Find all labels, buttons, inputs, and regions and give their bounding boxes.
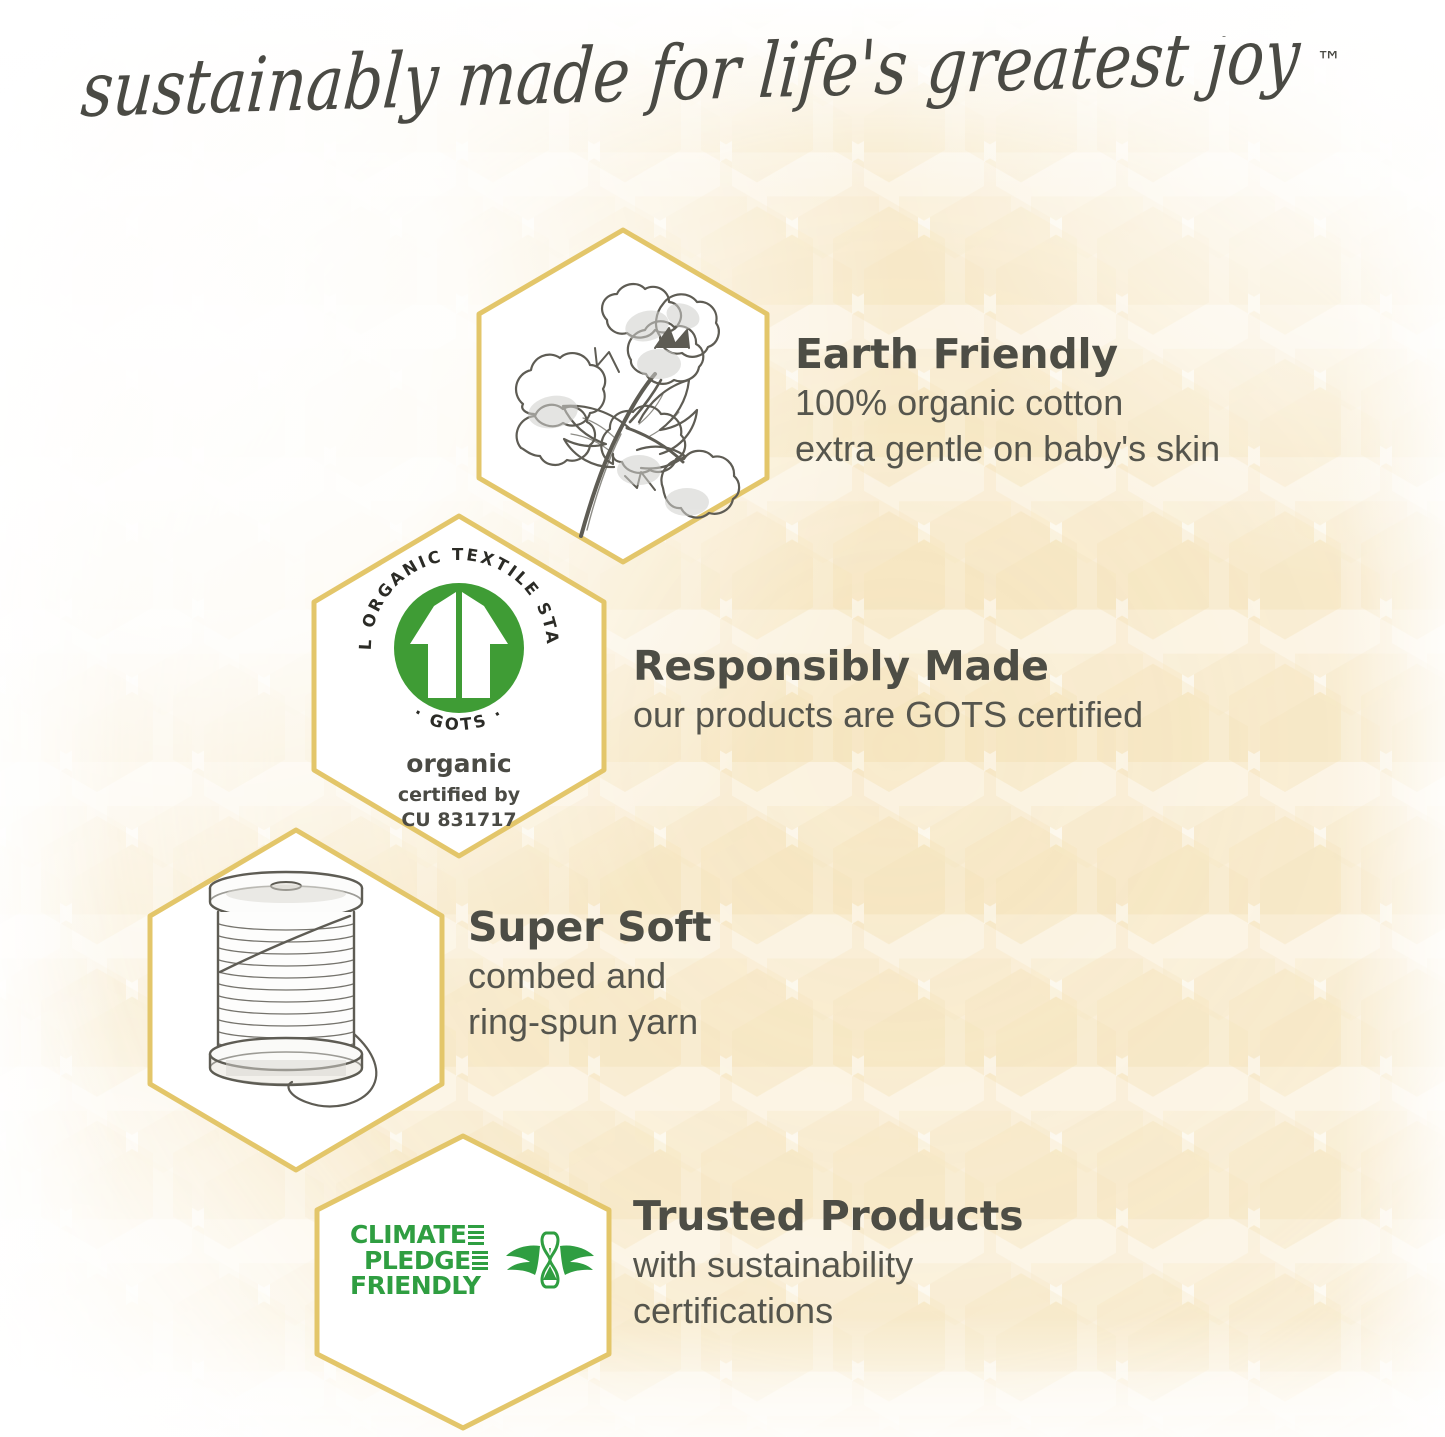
hexagon-outline: [317, 1136, 609, 1428]
feature-text-super-soft: Super Soft combed and ring-spun yarn: [468, 903, 712, 1045]
infographic-canvas: sustainably made for life's greatest joy…: [0, 0, 1445, 1437]
feature-card-trusted-products: [300, 1128, 626, 1436]
feature-line: certifications: [633, 1288, 1023, 1334]
feature-text-trusted-products: Trusted Products with sustainability cer…: [633, 1192, 1023, 1334]
feature-line: with sustainability: [633, 1242, 1023, 1288]
tagline-text: sustainably made for life's greatest joy: [78, 36, 1304, 134]
feature-line: ring-spun yarn: [468, 999, 712, 1045]
trademark-symbol: ™: [1316, 47, 1342, 77]
feature-line: 100% organic cotton: [795, 380, 1220, 426]
feature-title: Trusted Products: [633, 1192, 1023, 1240]
feature-card-super-soft: [133, 822, 459, 1178]
feature-line: extra gentle on baby's skin: [795, 426, 1220, 472]
hexagon-outline: [314, 516, 604, 856]
feature-text-responsibly-made: Responsibly Made our products are GOTS c…: [633, 642, 1143, 738]
feature-line: our products are GOTS certified: [633, 692, 1143, 738]
feature-title: Earth Friendly: [795, 330, 1220, 378]
feature-card-responsibly-made: [297, 508, 621, 864]
hexagon-outline: [150, 830, 442, 1170]
feature-line: combed and: [468, 953, 712, 999]
feature-title: Responsibly Made: [633, 642, 1143, 690]
brand-tagline: sustainably made for life's greatest joy…: [0, 36, 1445, 151]
feature-title: Super Soft: [468, 903, 712, 951]
feature-text-earth-friendly: Earth Friendly 100% organic cotton extra…: [795, 330, 1220, 472]
